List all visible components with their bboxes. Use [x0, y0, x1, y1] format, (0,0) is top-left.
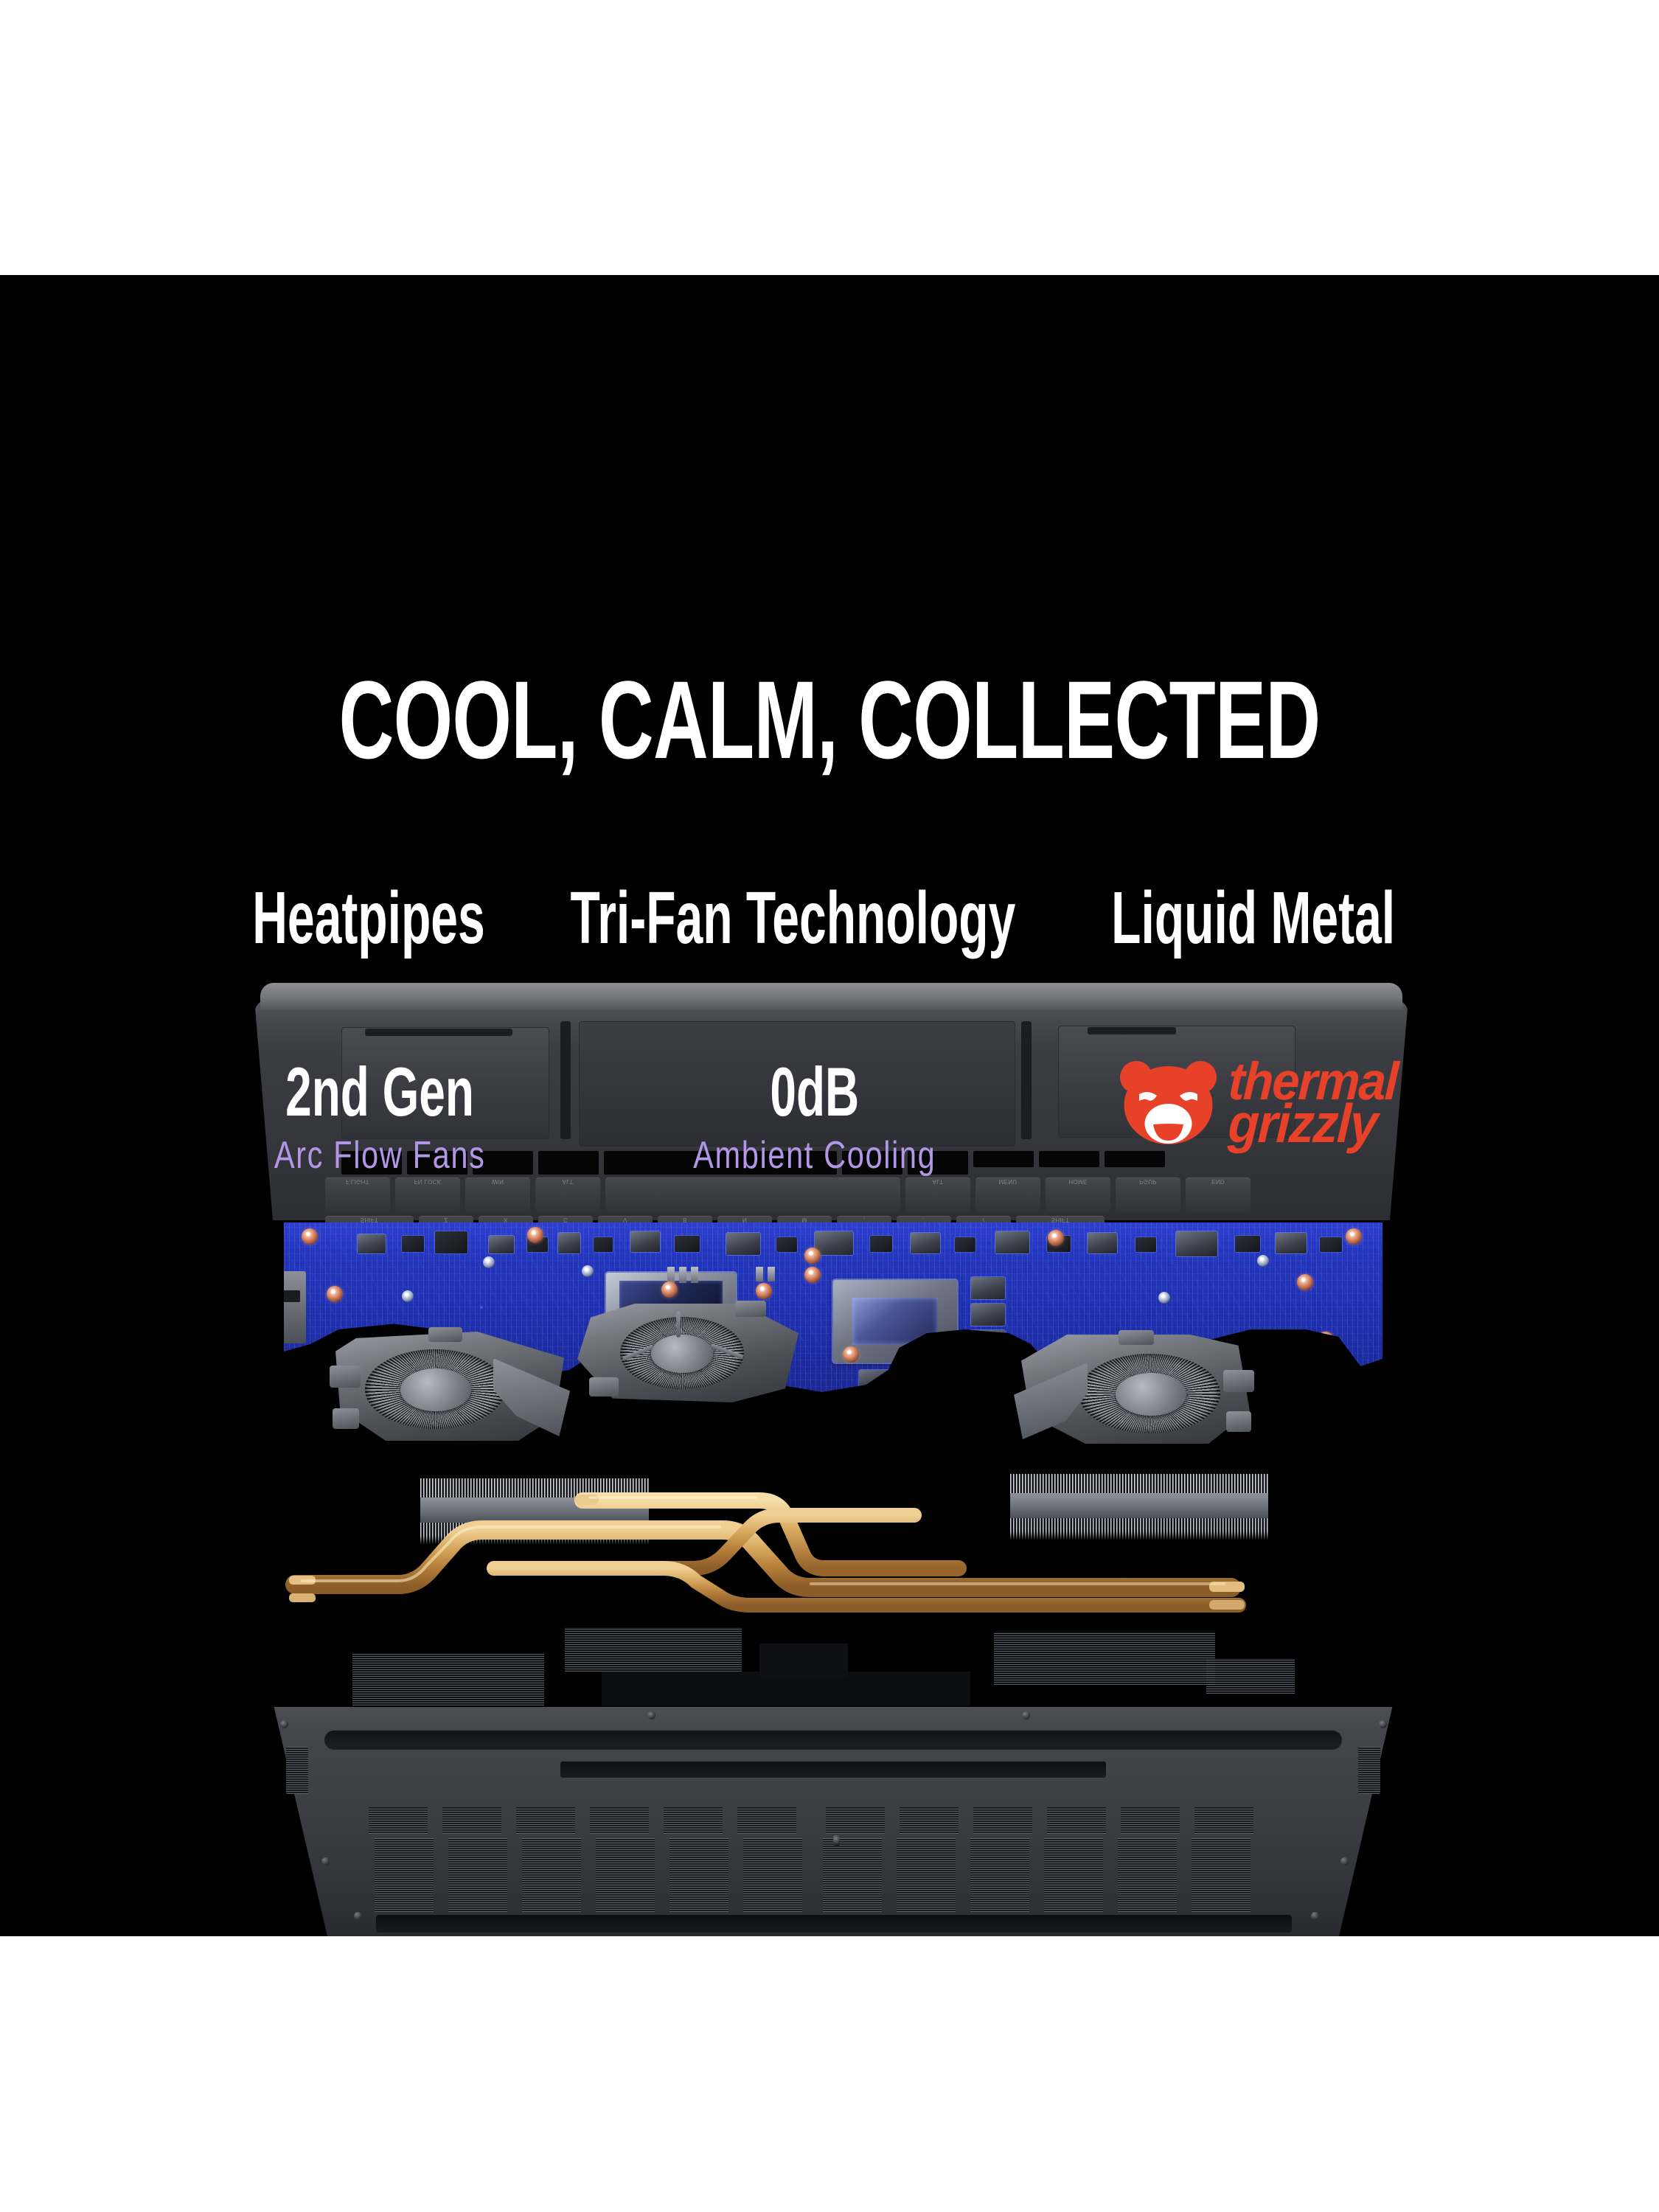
pcb-component: [1135, 1237, 1156, 1252]
pcb-component: [911, 1233, 940, 1253]
feature-heatpipes: Heatpipes: [214, 880, 524, 956]
thermal-grizzly-logo: thermal grizzly: [1029, 1057, 1500, 1147]
vent-column: [448, 1838, 507, 1912]
vent-column: [1044, 1838, 1103, 1912]
standoff-ring: [756, 1283, 772, 1299]
pcb-component: [1088, 1233, 1117, 1253]
fan-mount-tab: [1223, 1370, 1254, 1392]
standoff-ring: [527, 1227, 543, 1243]
memory-chip: [971, 1277, 1005, 1299]
feature-liquid-metal: Liquid Metal: [1062, 880, 1445, 956]
feature-row-primary: Heatpipes Tri-Fan Technology Liquid Meta…: [0, 880, 1659, 968]
feature-label: Tri-Fan Technology: [570, 880, 1015, 956]
pcb-component: [558, 1233, 580, 1253]
bottom-cover-layer: [243, 1617, 1423, 1936]
vent-mesh: [352, 1654, 544, 1705]
screw: [1379, 1720, 1387, 1728]
feature-tri-fan-technology: Tri-Fan Technology: [524, 880, 1062, 956]
io-port-opening: [275, 1290, 300, 1302]
thermal-grizzly-wordmark: thermal grizzly: [1228, 1060, 1410, 1147]
motherboard-layer: [284, 1222, 1382, 1444]
fan-hub: [1116, 1373, 1186, 1416]
feature-subtitle: Ambient Cooling: [693, 1135, 936, 1176]
feature-label: Heatpipes: [252, 880, 484, 956]
memory-chip: [939, 1370, 973, 1391]
standoff-ring: [804, 1248, 821, 1264]
pcb-component: [630, 1231, 660, 1252]
heatpipe-svg: [251, 1477, 1416, 1617]
pcb-component: [1235, 1236, 1260, 1252]
pcb-component: [995, 1231, 1029, 1253]
wordmark-line-2: grizzly: [1228, 1101, 1399, 1147]
pcb-component: [726, 1233, 760, 1255]
cooling-fan-right: [1021, 1335, 1250, 1444]
pcb-component: [870, 1236, 892, 1252]
feature-label: Liquid Metal: [1112, 880, 1396, 956]
side-vent-left: [286, 1747, 308, 1794]
standoff-ring: [302, 1228, 318, 1245]
standoff-ring: [843, 1346, 859, 1363]
vent-column: [897, 1838, 956, 1912]
fan-mount-tab: [1119, 1330, 1154, 1345]
memory-chip: [899, 1370, 933, 1391]
side-vent-right: [1358, 1747, 1380, 1794]
fan-hub: [400, 1368, 471, 1411]
vent-column: [375, 1838, 434, 1912]
bottom-cover-rear-lip: [324, 1731, 1342, 1750]
cooling-fan-center: [577, 1304, 799, 1402]
vent-column: [669, 1838, 728, 1912]
pcb-capacitor: [691, 1267, 698, 1283]
fan-mount-tab: [589, 1377, 619, 1397]
vent-column: [516, 1807, 575, 1834]
vent-column: [900, 1807, 959, 1834]
pcb-capacitor: [768, 1267, 775, 1281]
standoff-ring: [661, 1281, 678, 1298]
standoff-ring: [804, 1267, 821, 1283]
memory-chip: [859, 1370, 893, 1391]
screw: [647, 1711, 655, 1719]
pcb-component: [1276, 1233, 1307, 1253]
feature-arc-flow-fans: 2nd Gen Arc Flow Fans: [159, 1057, 601, 1176]
vent-column: [369, 1807, 428, 1834]
standoff-ring-small: [402, 1290, 414, 1302]
screw: [280, 1720, 288, 1728]
feature-subtitle: Arc Flow Fans: [274, 1135, 486, 1176]
standoff-ring: [1346, 1228, 1362, 1245]
hero-panel: F.LIGHT FN LOCK WIN ALT ALT MENU HOME PG…: [0, 275, 1659, 1936]
feature-title: 2nd Gen: [285, 1057, 474, 1127]
vent-mesh: [602, 1672, 970, 1705]
screw: [833, 1835, 840, 1846]
pcb-component: [776, 1237, 797, 1252]
pcb-component: [402, 1236, 424, 1252]
pcb-component: [815, 1231, 853, 1255]
pcb-component: [358, 1234, 386, 1253]
vent-mesh: [565, 1627, 742, 1672]
vent-column: [826, 1807, 885, 1834]
deck-slot-left: [365, 1029, 512, 1036]
fan-mount-tab: [735, 1301, 766, 1317]
pcb-component: [1320, 1237, 1342, 1252]
vent-column: [590, 1807, 649, 1834]
vent-column: [973, 1807, 1032, 1834]
pcb-component: [594, 1237, 613, 1252]
pcb-capacitor: [679, 1267, 686, 1283]
screw: [1022, 1711, 1030, 1719]
deck-back-lip: [260, 983, 1402, 1009]
grizzly-bear-head-icon: [1119, 1060, 1218, 1147]
pcb-component: [489, 1236, 514, 1253]
bottom-cover-recess: [560, 1761, 1106, 1778]
standoff-ring-small: [1158, 1292, 1170, 1304]
fan-strut: [676, 1311, 681, 1338]
vent-column: [1118, 1838, 1177, 1912]
standoff-ring-small: [1257, 1255, 1269, 1267]
pcb-component: [435, 1231, 467, 1253]
gpu-die: [852, 1298, 938, 1345]
vent-column: [664, 1807, 723, 1834]
feature-title: 0dB: [771, 1057, 860, 1127]
memory-chip: [971, 1304, 1005, 1326]
vent-column: [970, 1838, 1029, 1912]
pcb-capacitor: [756, 1267, 763, 1281]
memory-chip: [971, 1330, 1005, 1352]
standoff-ring: [1297, 1274, 1313, 1290]
standoff-ring: [327, 1286, 343, 1302]
vent-column: [596, 1838, 655, 1912]
feature-ambient-cooling: 0dB Ambient Cooling: [601, 1057, 1029, 1176]
vent-column: [522, 1838, 581, 1912]
page-title: COOL, CALM, COLLECTED: [257, 664, 1402, 775]
vent-column: [743, 1838, 802, 1912]
feature-row-secondary: 2nd Gen Arc Flow Fans 0dB Ambient Coolin…: [0, 1057, 1659, 1197]
screw: [321, 1857, 330, 1865]
standoff-ring: [1048, 1230, 1064, 1246]
copper-heatpipe-assembly: [251, 1477, 1416, 1617]
standoff-ring-small: [917, 1336, 928, 1348]
vent-column: [823, 1838, 882, 1912]
bottom-cover-front-lip: [376, 1915, 1292, 1933]
vent-column: [442, 1807, 501, 1834]
screw: [1311, 1912, 1319, 1920]
fan-mount-tab: [333, 1408, 359, 1429]
bottom-vent-meshes: [243, 1617, 1423, 1713]
fan-mount-tab: [1226, 1411, 1251, 1432]
screw: [1340, 1857, 1349, 1865]
pcb-component: [675, 1236, 700, 1252]
standoff-ring: [1318, 1332, 1334, 1348]
cooling-fan-left: [335, 1332, 564, 1441]
pcb-component: [955, 1237, 975, 1252]
pcb-capacitor: [667, 1267, 675, 1283]
deck-slot-right: [1088, 1027, 1176, 1034]
standoff-ring-small: [483, 1256, 495, 1268]
vent-mesh: [994, 1632, 1215, 1685]
vent-mesh: [1206, 1658, 1295, 1694]
vent-column: [1194, 1807, 1253, 1834]
standoff-ring-small: [582, 1265, 594, 1277]
fan-hub: [651, 1335, 713, 1373]
fan-mount-tab: [428, 1327, 462, 1342]
vent-column: [737, 1807, 796, 1834]
standoff-ring: [970, 1357, 986, 1373]
fan-mount-tab: [330, 1366, 361, 1388]
io-port-block: [272, 1271, 306, 1343]
pcb-component: [1176, 1231, 1217, 1256]
vent-column: [1047, 1807, 1106, 1834]
thermal-grizzly-lockup: thermal grizzly: [1119, 1060, 1410, 1147]
screw: [354, 1912, 362, 1920]
vent-column: [1192, 1838, 1251, 1912]
vent-column: [1121, 1807, 1180, 1834]
